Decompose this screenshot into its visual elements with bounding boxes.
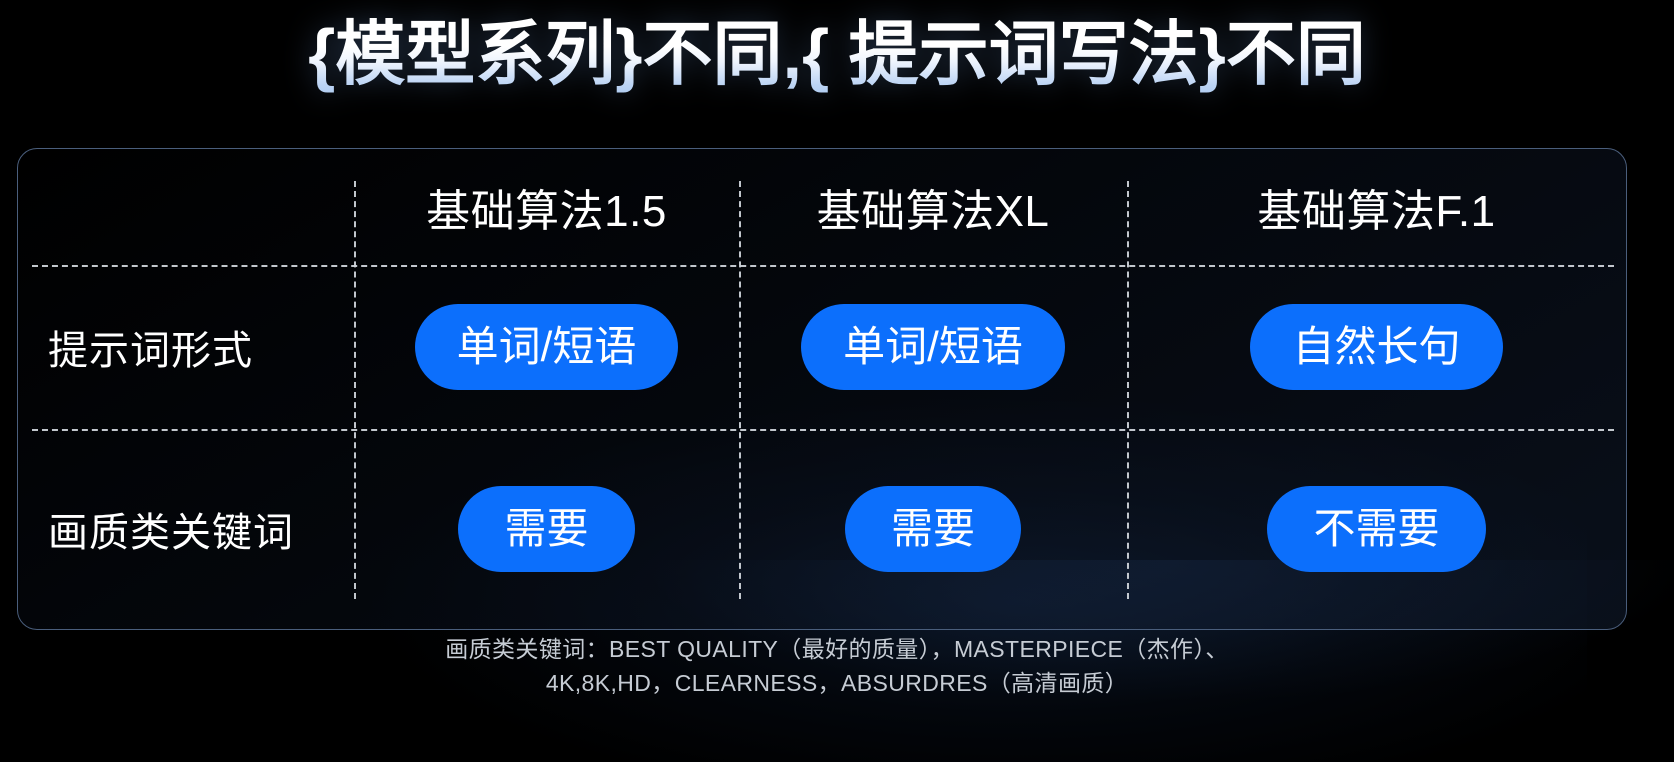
footnote-line-1: 画质类关键词：BEST QUALITY（最好的质量），MASTERPIECE（杰… <box>0 632 1674 666</box>
value-pill-r2c2[interactable]: 需要 <box>845 486 1021 572</box>
comparison-table-card: 基础算法1.5 基础算法XL 基础算法F.1 提示词形式 单词/短语 单词/短语… <box>17 148 1627 630</box>
row-header-cell-2: 画质类关键词 <box>18 429 354 629</box>
value-pill-r1c2[interactable]: 单词/短语 <box>801 304 1065 390</box>
table-cell-r1c1: 单词/短语 <box>354 265 739 429</box>
table-cell-r2c3: 不需要 <box>1127 429 1626 629</box>
value-pill-r2c3[interactable]: 不需要 <box>1267 486 1485 572</box>
table-cell-r1c2: 单词/短语 <box>739 265 1127 429</box>
table-corner-cell <box>18 149 354 265</box>
column-header-label-1: 基础算法1.5 <box>426 175 667 239</box>
table-cell-r2c1: 需要 <box>354 429 739 629</box>
table-cell-r2c2: 需要 <box>739 429 1127 629</box>
column-header-label-3: 基础算法F.1 <box>1257 175 1495 239</box>
value-pill-r1c1[interactable]: 单词/短语 <box>415 304 679 390</box>
column-header-label-2: 基础算法XL <box>817 175 1050 239</box>
footnote-caption: 画质类关键词：BEST QUALITY（最好的质量），MASTERPIECE（杰… <box>0 632 1674 700</box>
row-header-cell-1: 提示词形式 <box>18 265 354 429</box>
column-header-cell-3: 基础算法F.1 <box>1127 149 1626 265</box>
column-header-cell-1: 基础算法1.5 <box>354 149 739 265</box>
table-cell-r1c3: 自然长句 <box>1127 265 1626 429</box>
value-pill-r1c3[interactable]: 自然长句 <box>1250 304 1502 390</box>
comparison-grid: 基础算法1.5 基础算法XL 基础算法F.1 提示词形式 单词/短语 单词/短语… <box>18 149 1626 629</box>
row-header-label-2: 画质类关键词 <box>48 500 294 558</box>
footnote-line-2: 4K,8K,HD，CLEARNESS，ABSURDRES（高清画质） <box>0 666 1674 700</box>
row-header-label-1: 提示词形式 <box>48 318 253 376</box>
slide-title: {模型系列}不同,{ 提示词写法}不同 <box>0 6 1674 102</box>
value-pill-r2c1[interactable]: 需要 <box>458 486 634 572</box>
column-header-cell-2: 基础算法XL <box>739 149 1127 265</box>
